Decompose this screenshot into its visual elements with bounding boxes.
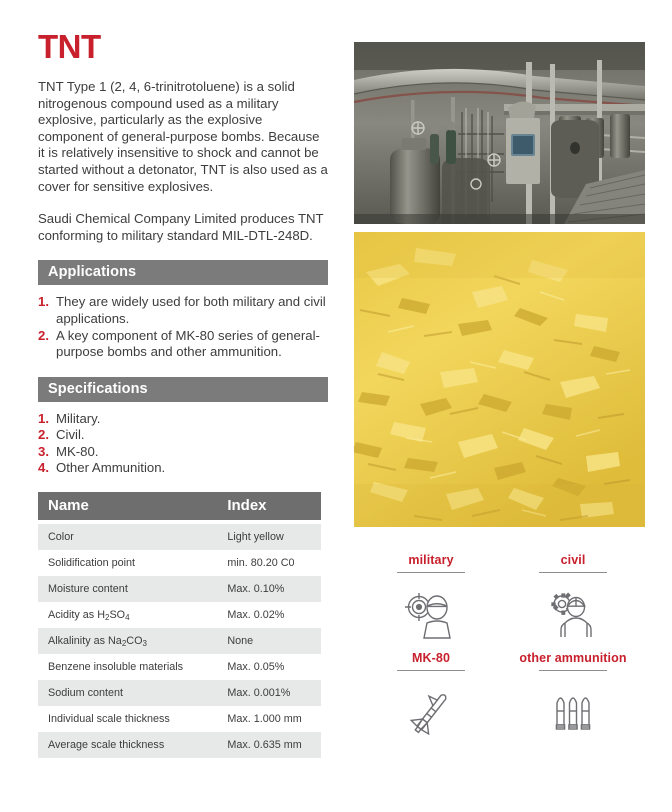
specifications-list: 1. Military. 2. Civil. 3. MK-80. 4. Othe… — [38, 411, 328, 477]
icon-cell-civil: civil — [502, 553, 644, 651]
table-row: Moisture content Max. 0.10% — [38, 576, 321, 602]
specifications-section-header: Specifications — [38, 377, 328, 402]
list-marker: 2. — [38, 328, 49, 345]
cell-name: Acidity as H2SO4 — [38, 602, 215, 628]
product-datasheet-page: TNT TNT Type 1 (2, 4, 6-trinitrotoluene)… — [0, 0, 672, 812]
icon-divider — [397, 670, 465, 671]
list-item: 3. MK-80. — [38, 444, 328, 460]
icon-label: MK-80 — [360, 651, 502, 665]
icon-divider — [539, 572, 607, 573]
cell-index: Max. 1.000 mm — [215, 706, 321, 732]
application-icon-grid: military — [360, 553, 645, 749]
column-header-index: Index — [215, 492, 321, 520]
list-item-text: Civil. — [56, 427, 85, 442]
icon-row-top: military — [360, 553, 645, 651]
bomb-icon — [360, 685, 502, 741]
list-item: 4. Other Ammunition. — [38, 460, 328, 476]
left-content-column: TNT TNT Type 1 (2, 4, 6-trinitrotoluene)… — [38, 30, 328, 758]
cell-index: Max. 0.635 mm — [215, 732, 321, 758]
cell-name: Average scale thickness — [38, 732, 215, 758]
cell-name: Individual scale thickness — [38, 706, 215, 732]
table-row: Individual scale thickness Max. 1.000 mm — [38, 706, 321, 732]
bullets-icon — [502, 685, 644, 741]
icon-label: other ammunition — [502, 651, 644, 665]
cell-index: min. 80.20 C0 — [215, 550, 321, 576]
cell-name: Sodium content — [38, 680, 215, 706]
intro-paragraph-1: TNT Type 1 (2, 4, 6-trinitrotoluene) is … — [38, 79, 328, 195]
list-marker: 2. — [38, 427, 49, 443]
list-item: 2. A key component of MK-80 series of ge… — [38, 328, 328, 361]
cell-index: Light yellow — [215, 524, 321, 550]
list-marker: 4. — [38, 460, 49, 476]
list-item-text: A key component of MK-80 series of gener… — [56, 328, 320, 360]
table-row: Solidification point min. 80.20 C0 — [38, 550, 321, 576]
icon-divider — [539, 670, 607, 671]
table-head: Name Index — [38, 492, 321, 520]
table-header-row: Name Index — [38, 492, 321, 520]
list-marker: 1. — [38, 411, 49, 427]
cell-index: Max. 0.10% — [215, 576, 321, 602]
table-body: Color Light yellow Solidification point … — [38, 520, 321, 758]
table-row: Alkalinity as Na2CO3 None — [38, 628, 321, 654]
cell-name: Solidification point — [38, 550, 215, 576]
list-item-text: Other Ammunition. — [56, 460, 165, 475]
icon-label: civil — [502, 553, 644, 567]
table-row: Color Light yellow — [38, 524, 321, 550]
specifications-table: Name Index Color Light yellow Solidifica… — [38, 492, 321, 758]
list-item: 1. Military. — [38, 411, 328, 427]
cell-index: None — [215, 628, 321, 654]
cell-name: Color — [38, 524, 215, 550]
icon-row-bottom: MK-80 — [360, 651, 645, 749]
cell-name: Alkalinity as Na2CO3 — [38, 628, 215, 654]
table-row: Benzene insoluble materials Max. 0.05% — [38, 654, 321, 680]
worker-gear-icon — [502, 587, 644, 643]
soldier-target-icon — [360, 587, 502, 643]
intro-paragraph-2: Saudi Chemical Company Limited produces … — [38, 211, 328, 244]
icon-divider — [397, 572, 465, 573]
table-row: Sodium content Max. 0.001% — [38, 680, 321, 706]
icon-cell-mk80: MK-80 — [360, 651, 502, 749]
cell-name: Moisture content — [38, 576, 215, 602]
cell-index: Max. 0.02% — [215, 602, 321, 628]
list-item: 1. They are widely used for both militar… — [38, 294, 328, 327]
list-item-text: MK-80. — [56, 444, 99, 459]
table-row: Acidity as H2SO4 Max. 0.02% — [38, 602, 321, 628]
icon-cell-military: military — [360, 553, 502, 651]
cell-index: Max. 0.05% — [215, 654, 321, 680]
cell-name: Benzene insoluble materials — [38, 654, 215, 680]
page-title: TNT — [38, 30, 328, 63]
chemical-plant-photo — [354, 42, 645, 224]
list-marker: 1. — [38, 294, 49, 311]
icon-cell-other-ammunition: other ammunition — [502, 651, 644, 749]
icon-label: military — [360, 553, 502, 567]
column-header-name: Name — [38, 492, 215, 520]
tnt-flakes-photo — [354, 232, 645, 527]
applications-section-header: Applications — [38, 260, 328, 285]
list-item-text: They are widely used for both military a… — [56, 294, 326, 326]
list-marker: 3. — [38, 444, 49, 460]
list-item: 2. Civil. — [38, 427, 328, 443]
applications-list: 1. They are widely used for both militar… — [38, 294, 328, 360]
table-row: Average scale thickness Max. 0.635 mm — [38, 732, 321, 758]
list-item-text: Military. — [56, 411, 100, 426]
cell-index: Max. 0.001% — [215, 680, 321, 706]
